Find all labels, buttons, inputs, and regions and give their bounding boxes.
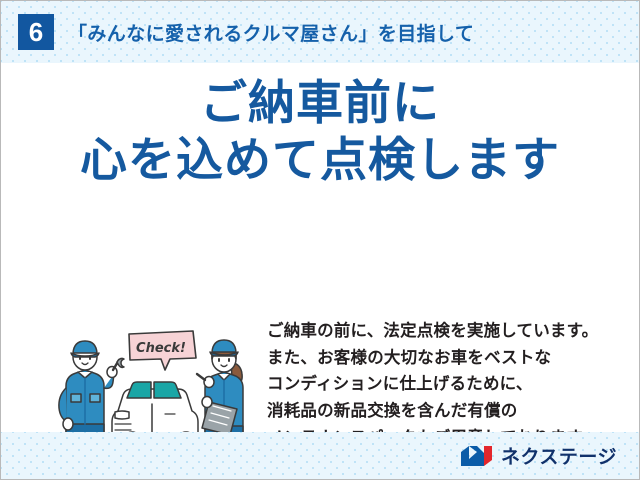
brand-lockup: ネクステージ bbox=[460, 442, 617, 469]
body-line-2: また、お客様の大切なお車をベストな bbox=[267, 345, 627, 372]
body-line-4: 消耗品の新品交換を含んだ有償の bbox=[267, 398, 627, 425]
nextage-n-logo-icon bbox=[460, 444, 494, 468]
brand-name: ネクステージ bbox=[501, 442, 617, 469]
headline-line-1: ご納車前に bbox=[1, 77, 639, 130]
lower-section: Check! ご納車の前に、法定点検を実施しています。 また、お客様の大切なお車… bbox=[1, 248, 639, 432]
headline-line-2: 心を込めて点検します bbox=[1, 134, 639, 187]
slide-container: 6 「みんなに愛されるクルマ屋さん」を目指して ご納車前に 心を込めて点検します bbox=[0, 0, 640, 480]
body-line-1: ご納車の前に、法定点検を実施しています。 bbox=[267, 318, 627, 345]
check-bubble-label: Check! bbox=[136, 341, 186, 356]
header: 6 「みんなに愛されるクルマ屋さん」を目指して bbox=[1, 1, 639, 63]
footer: ネクステージ bbox=[1, 432, 639, 479]
header-title: 「みんなに愛されるクルマ屋さん」を目指して bbox=[68, 19, 474, 46]
headline: ご納車前に 心を込めて点検します bbox=[1, 77, 639, 186]
main-content: ご納車前に 心を込めて点検します bbox=[1, 63, 639, 432]
step-number-badge: 6 bbox=[18, 14, 54, 50]
body-line-3: コンディションに仕上げるために、 bbox=[267, 371, 627, 398]
